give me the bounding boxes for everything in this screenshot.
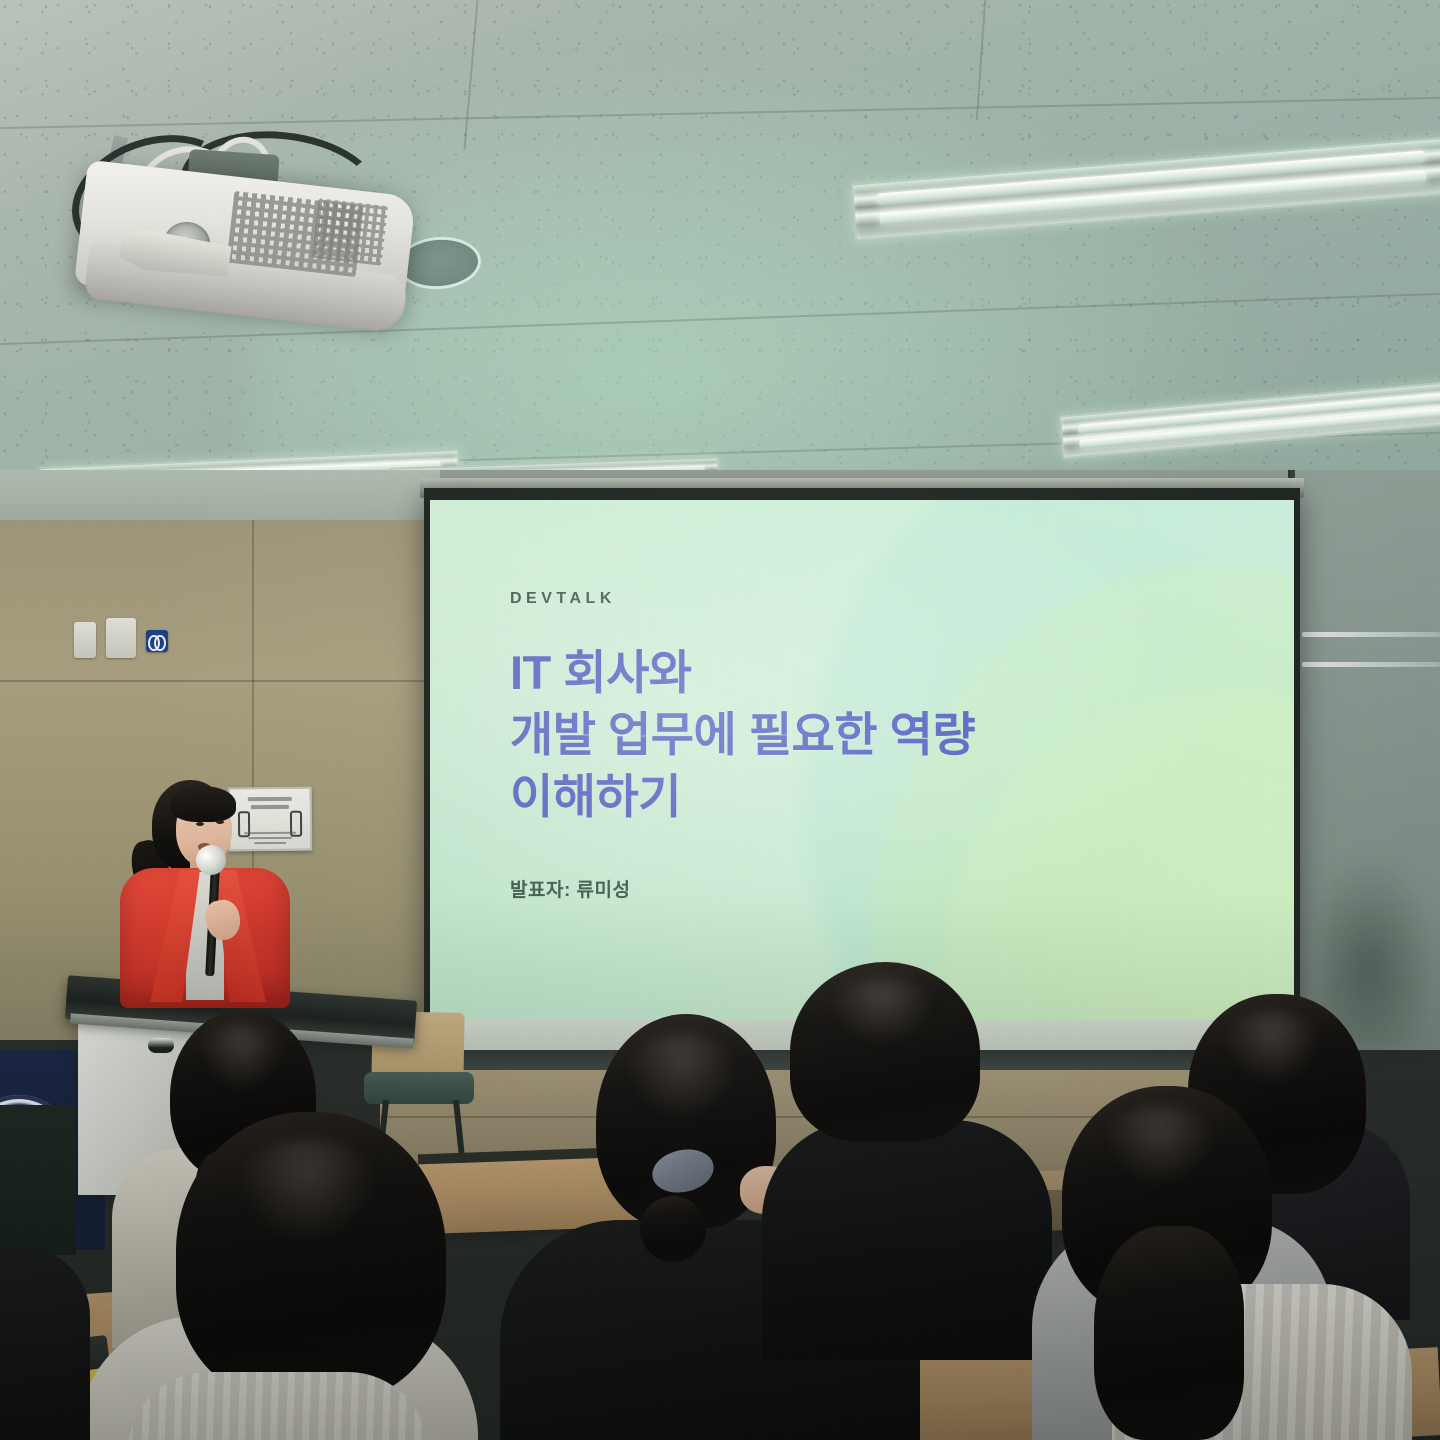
lectern-side-panel xyxy=(0,1105,76,1255)
lecture-room-photo: DEVTALK IT 회사와 개발 업무에 필요한 역량 이해하기 발표자: 류… xyxy=(0,0,1440,1440)
slide-title-line-3: 이해하기 xyxy=(510,766,1254,828)
presentation-slide: DEVTALK IT 회사와 개발 업무에 필요한 역량 이해하기 발표자: 류… xyxy=(430,500,1294,1020)
presenter-eye xyxy=(196,822,204,826)
slide-title-line-2: 개발 업무에 필요한 역량 xyxy=(510,704,1254,766)
hair-highlight xyxy=(826,978,938,1048)
slide-content: DEVTALK IT 회사와 개발 업무에 필요한 역량 이해하기 발표자: 류… xyxy=(510,590,1254,980)
ceiling-projector xyxy=(60,130,460,345)
audience-hair-bun xyxy=(640,1196,706,1262)
slide-presenter-label: 발표자: 류미성 xyxy=(510,875,631,902)
projector-vent-grille xyxy=(312,198,388,266)
audience-clothing xyxy=(0,1246,90,1440)
window-sheen xyxy=(1302,632,1440,637)
hair-highlight xyxy=(622,1034,742,1126)
audience-hair xyxy=(1094,1226,1244,1440)
wall-notice-sign xyxy=(228,787,313,852)
light-switch-plate[interactable] xyxy=(74,622,96,658)
hair-highlight xyxy=(232,1140,382,1250)
slide-title: IT 회사와 개발 업무에 필요한 역량 이해하기 xyxy=(510,642,1254,828)
slide-brand-devtalk: DEVTALK xyxy=(510,590,1254,608)
presenter-hair-fringe xyxy=(170,786,236,822)
power-outlet-plate[interactable] xyxy=(106,618,136,658)
hair-highlight xyxy=(1100,1106,1220,1190)
hair-highlight xyxy=(1220,1012,1324,1088)
window-sheen xyxy=(1302,662,1440,667)
presenter-eye xyxy=(216,820,224,824)
audience-quilted-jacket xyxy=(762,1120,1052,1360)
slide-title-line-1: IT 회사와 xyxy=(510,642,1254,704)
wall-info-sign-icon xyxy=(146,630,168,652)
audience-clothing xyxy=(128,1372,428,1440)
lectern-light-knob[interactable] xyxy=(148,1038,174,1053)
hair-highlight xyxy=(196,1024,288,1094)
